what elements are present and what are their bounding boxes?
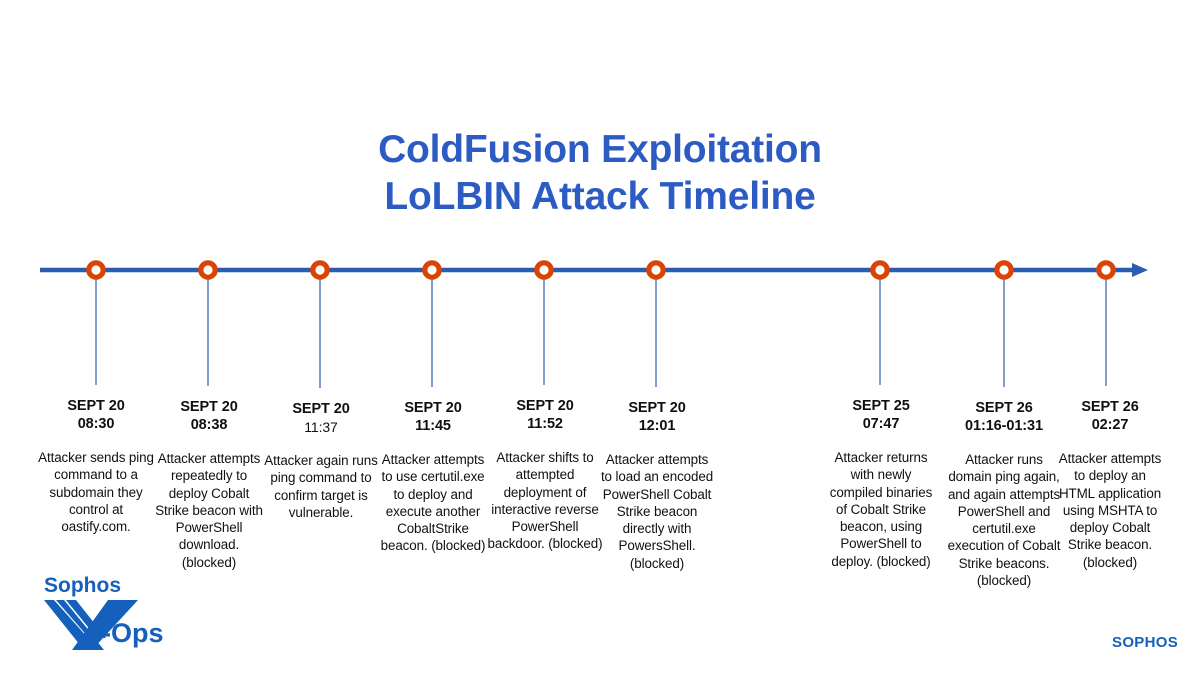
event-time-4: 11:45 <box>376 417 490 435</box>
xops-sophos-text: Sophos <box>44 574 121 597</box>
timeline-event-9[interactable]: SEPT 2602:27 <box>1058 398 1162 434</box>
event-time-9: 02:27 <box>1058 416 1162 434</box>
timeline-event-5[interactable]: SEPT 2011:52 <box>486 397 604 433</box>
event-date-8: SEPT 26 <box>944 399 1064 417</box>
event-description-4: Attacker attempts to use certutil.exe to… <box>376 451 490 555</box>
event-time-2: 08:38 <box>152 416 266 434</box>
timeline-event-1[interactable]: SEPT 2008:30 <box>34 397 158 433</box>
timeline-event-3[interactable]: SEPT 2011:37 <box>262 400 380 436</box>
event-date-9: SEPT 26 <box>1058 398 1162 416</box>
event-date-3: SEPT 20 <box>262 400 380 418</box>
event-date-2: SEPT 20 <box>152 398 266 416</box>
xops-ops-text: -Ops <box>102 618 164 648</box>
event-time-3: 11:37 <box>262 418 380 436</box>
event-description-8: Attacker runs domain ping again, and aga… <box>944 451 1064 589</box>
event-time-5: 11:52 <box>486 415 604 433</box>
event-description-2: Attacker attempts repeatedly to deploy C… <box>152 450 266 571</box>
event-description-5: Attacker shifts to attempted deployment … <box>486 449 604 553</box>
event-date-5: SEPT 20 <box>486 397 604 415</box>
sophos-xops-logo: Sophos -Ops <box>42 572 192 654</box>
event-date-7: SEPT 25 <box>824 397 938 415</box>
event-description-9: Attacker attempts to deploy an HTML appl… <box>1058 450 1162 571</box>
timeline-event-6[interactable]: SEPT 2012:01 <box>600 399 714 435</box>
event-date-6: SEPT 20 <box>600 399 714 417</box>
event-description-1: Attacker sends ping command to a subdoma… <box>34 449 158 535</box>
event-date-4: SEPT 20 <box>376 399 490 417</box>
event-time-8: 01:16-01:31 <box>944 417 1064 435</box>
event-time-7: 07:47 <box>824 415 938 433</box>
timeline-event-8[interactable]: SEPT 2601:16-01:31 <box>944 399 1064 435</box>
timeline-event-2[interactable]: SEPT 2008:38 <box>152 398 266 434</box>
event-description-3: Attacker again runs ping command to conf… <box>262 452 380 521</box>
timeline-event-7[interactable]: SEPT 2507:47 <box>824 397 938 433</box>
event-time-6: 12:01 <box>600 417 714 435</box>
timeline-event-4[interactable]: SEPT 2011:45 <box>376 399 490 435</box>
event-description-6: Attacker attempts to load an encoded Pow… <box>600 451 714 572</box>
event-time-1: 08:30 <box>34 415 158 433</box>
event-description-7: Attacker returns with newly compiled bin… <box>824 449 938 570</box>
sophos-wordmark: SOPHOS <box>1112 634 1178 651</box>
event-date-1: SEPT 20 <box>34 397 158 415</box>
